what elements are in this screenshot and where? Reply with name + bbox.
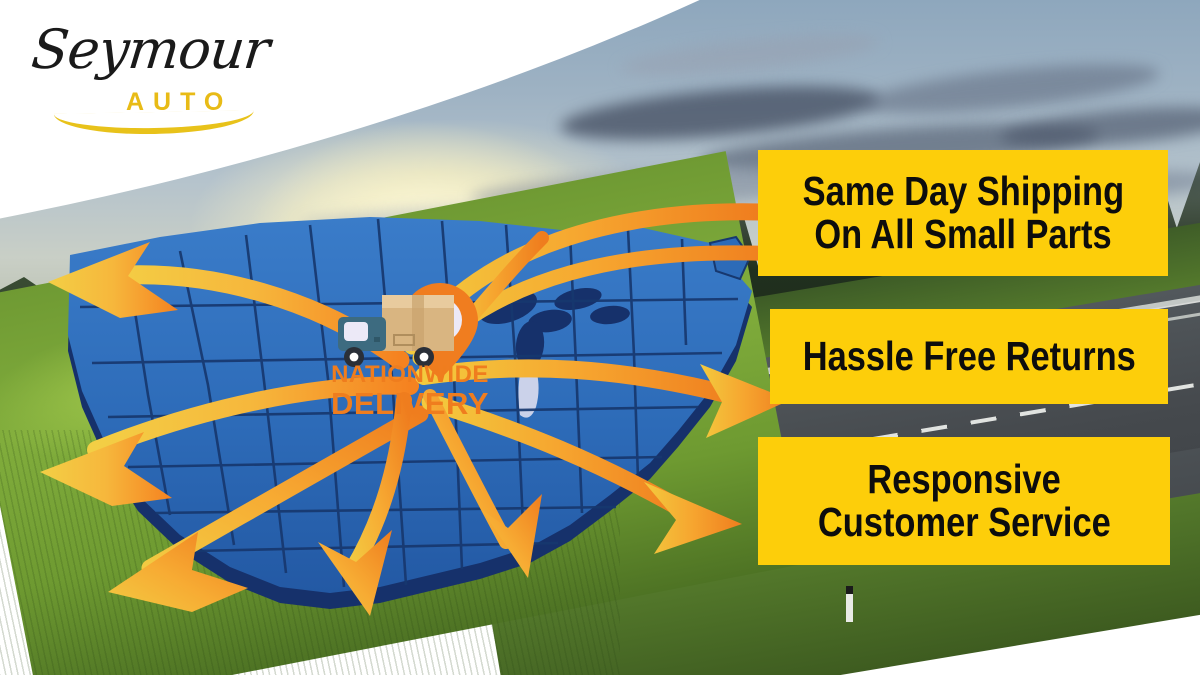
feature-box-same-day-shipping[interactable]: Same Day Shipping On All Small Parts	[758, 150, 1168, 276]
nationwide-delivery-badge: NATIONWIDE DELIVERY	[320, 275, 500, 450]
brand-logo[interactable]: Seymour AUTO	[26, 16, 266, 126]
brand-name: Seymour	[29, 18, 272, 81]
cargo-box-icon	[382, 295, 454, 351]
feature-line: Responsive	[867, 458, 1060, 501]
badge-caption: NATIONWIDE DELIVERY	[320, 363, 500, 422]
brand-subtitle: AUTO	[126, 88, 232, 117]
badge-line-2: DELIVERY	[320, 387, 500, 422]
feature-box-responsive-customer-service[interactable]: Responsive Customer Service	[758, 437, 1170, 565]
feature-line: Hassle Free Returns	[802, 335, 1135, 378]
marketing-banner: Seymour AUTO	[0, 0, 1200, 675]
feature-line: Customer Service	[818, 501, 1111, 544]
badge-line-1: NATIONWIDE	[320, 363, 500, 387]
roadside-marker-post	[846, 586, 853, 622]
feature-line: On All Small Parts	[814, 213, 1111, 256]
feature-box-hassle-free-returns[interactable]: Hassle Free Returns	[770, 309, 1168, 404]
feature-line: Same Day Shipping	[802, 170, 1124, 213]
